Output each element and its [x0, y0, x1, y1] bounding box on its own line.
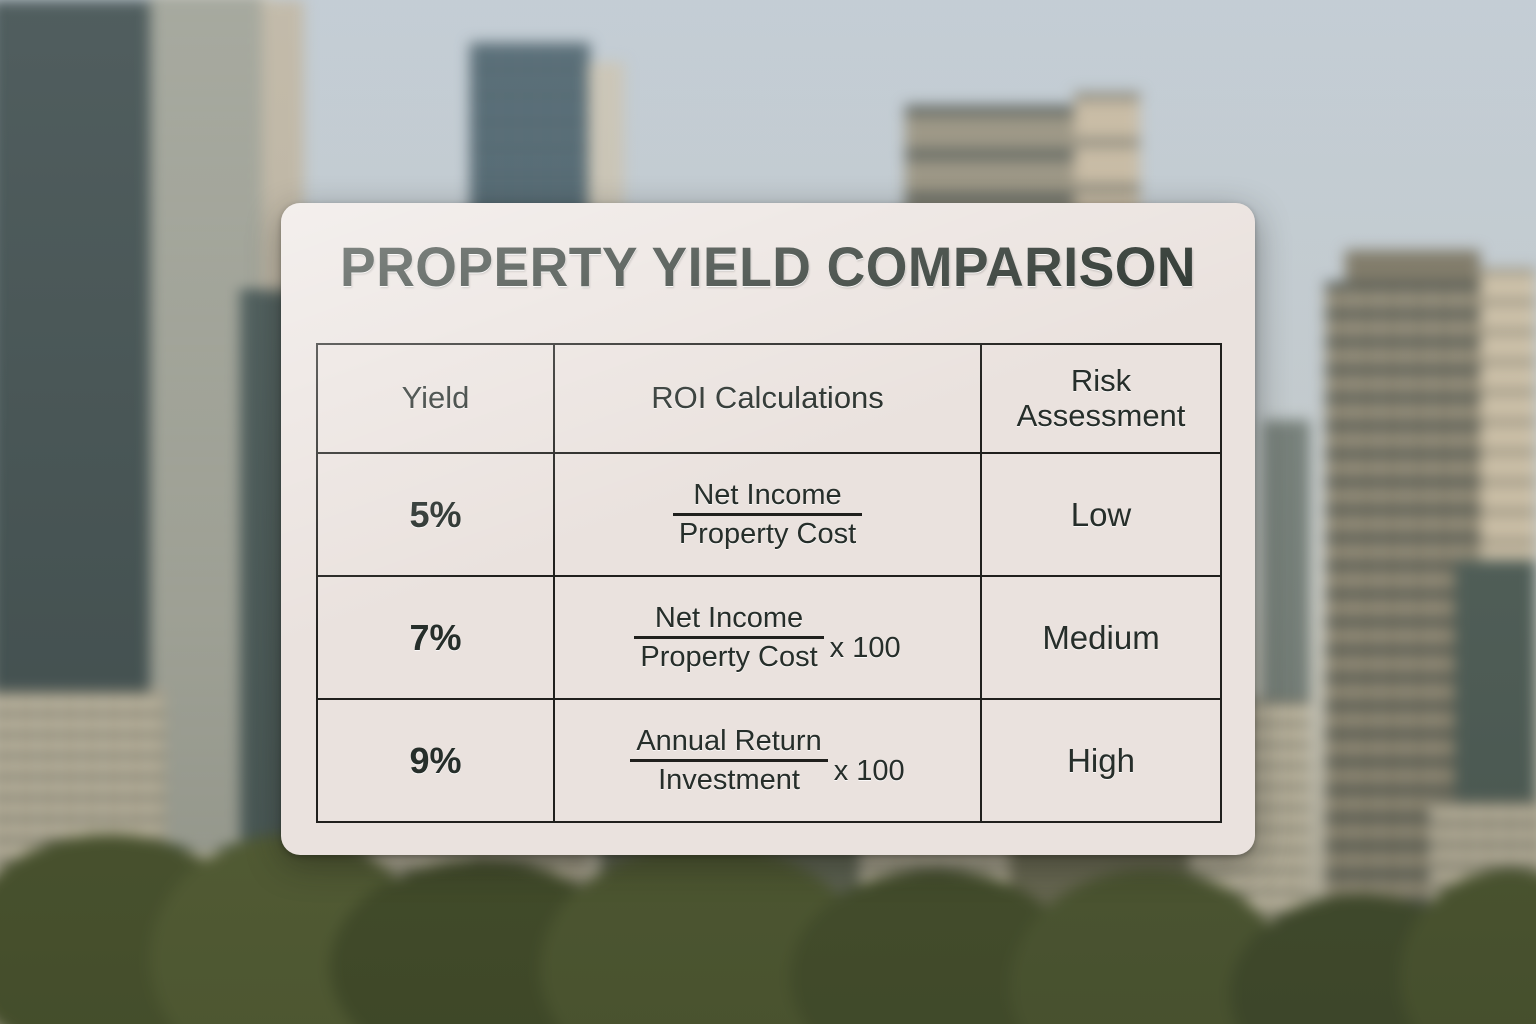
- page-title: PROPERTY YIELD COMPARISON: [336, 239, 1199, 295]
- fraction-bar: [673, 513, 862, 516]
- table-row: 9% Annual Return Investment x 100 High: [317, 699, 1221, 822]
- fraction-numerator: Annual Return: [630, 726, 827, 756]
- yield-value: 5%: [317, 453, 554, 576]
- roi-formula: Net Income Property Cost: [554, 453, 981, 576]
- column-header-risk-line2: Assessment: [1017, 398, 1186, 433]
- risk-value: High: [981, 699, 1221, 822]
- fraction-denominator: Property Cost: [634, 642, 823, 672]
- yield-value: 9%: [317, 699, 554, 822]
- fraction-bar: [634, 636, 823, 639]
- table-row: 5% Net Income Property Cost Low: [317, 453, 1221, 576]
- fraction-denominator: Investment: [652, 765, 806, 795]
- property-yield-table: Yield ROI Calculations Risk Assessment 5…: [316, 343, 1222, 823]
- formula-multiplier: x 100: [830, 632, 901, 665]
- column-header-risk: Risk Assessment: [981, 344, 1221, 453]
- table-row: 7% Net Income Property Cost x 100 Medium: [317, 576, 1221, 699]
- risk-value: Medium: [981, 576, 1221, 699]
- fraction: Annual Return Investment: [630, 726, 827, 796]
- roi-formula: Net Income Property Cost x 100: [554, 576, 981, 699]
- fraction-bar: [630, 759, 827, 762]
- table-header-row: Yield ROI Calculations Risk Assessment: [317, 344, 1221, 453]
- risk-value: Low: [981, 453, 1221, 576]
- column-header-yield: Yield: [317, 344, 554, 453]
- formula-multiplier: x 100: [834, 755, 905, 788]
- fraction: Net Income Property Cost: [673, 480, 862, 550]
- column-header-roi: ROI Calculations: [554, 344, 981, 453]
- comparison-card: PROPERTY YIELD COMPARISON Yield ROI Calc…: [281, 203, 1255, 855]
- fraction-numerator: Net Income: [687, 480, 847, 510]
- roi-formula: Annual Return Investment x 100: [554, 699, 981, 822]
- fraction: Net Income Property Cost: [634, 603, 823, 673]
- column-header-risk-line1: Risk: [1071, 363, 1131, 398]
- fraction-denominator: Property Cost: [673, 519, 862, 549]
- yield-value: 7%: [317, 576, 554, 699]
- fraction-numerator: Net Income: [649, 603, 809, 633]
